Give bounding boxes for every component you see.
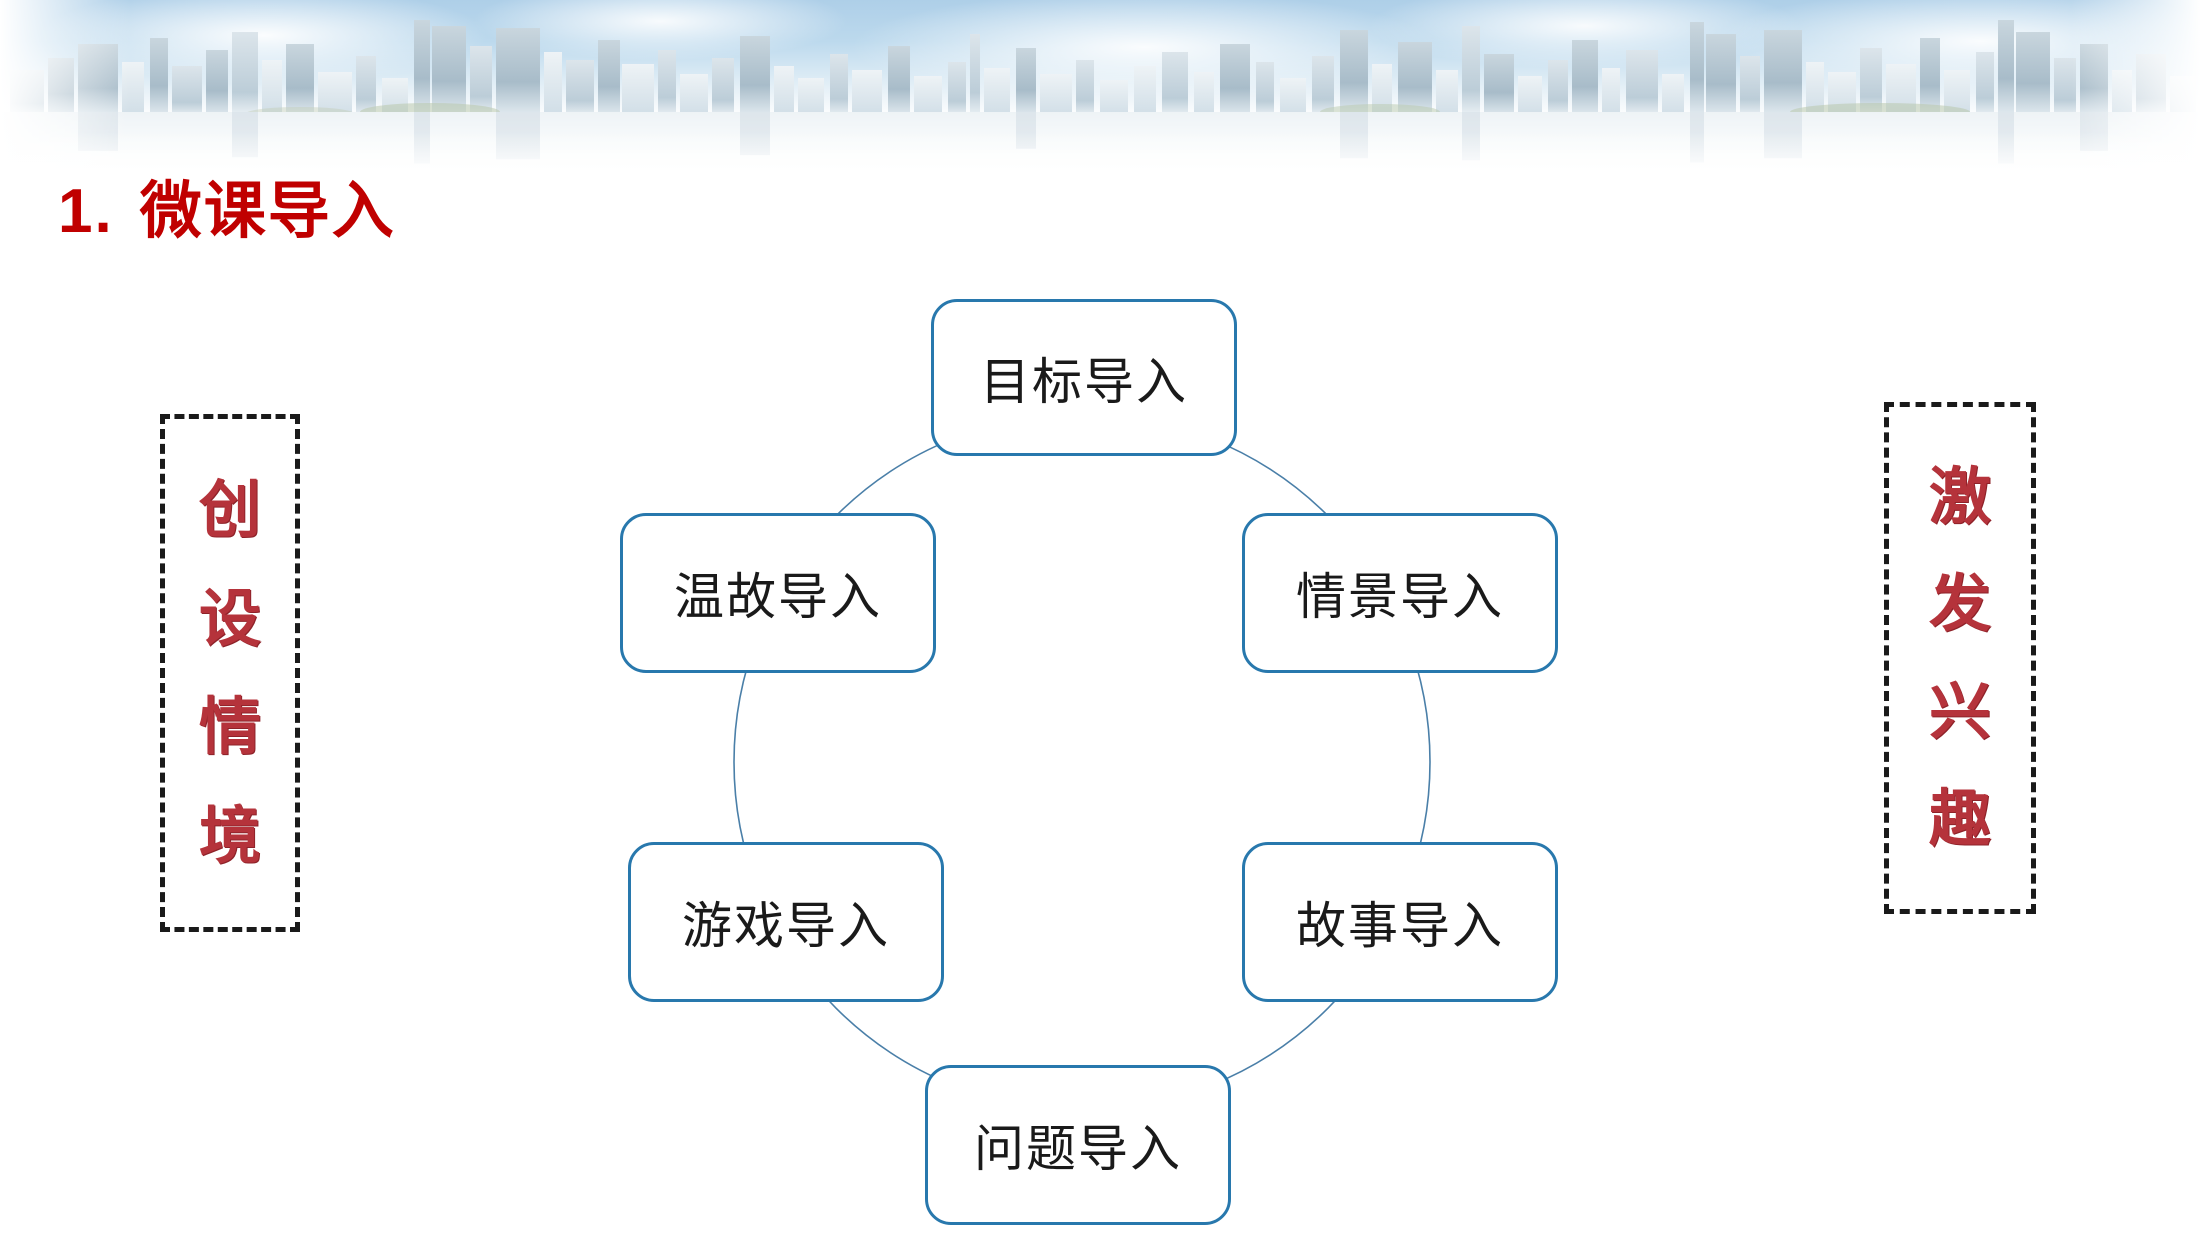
banner-bottom-fade: [0, 132, 2201, 180]
cityscape-banner: [0, 0, 2201, 180]
create-situation-banner: 创 设 情 境: [160, 414, 300, 932]
title-number: 1.: [58, 177, 114, 246]
stimulate-interest-banner: 激 发 兴 趣: [1884, 402, 2036, 914]
slide-canvas: 1.微课导入 创 设 情 境 激 发 兴 趣 目标导入 情景导入 故事导入 问题…: [0, 0, 2201, 1238]
skyline-silhouette: [0, 0, 2201, 118]
side-right-char-3: 兴: [1929, 681, 1991, 743]
cycle-node-review[interactable]: 温故导入: [620, 513, 936, 673]
page-title: 1.微课导入: [58, 178, 396, 246]
side-right-char-1: 激: [1929, 466, 1991, 528]
side-left-char-2: 设: [199, 588, 261, 650]
side-right-char-4: 趣: [1929, 788, 1991, 850]
cycle-node-situation[interactable]: 情景导入: [1242, 513, 1558, 673]
side-right-char-2: 发: [1929, 573, 1991, 635]
side-left-char-4: 境: [199, 805, 261, 867]
side-left-char-3: 情: [199, 696, 261, 758]
cycle-diagram: 目标导入 情景导入 故事导入 问题导入 游戏导入 温故导入: [620, 280, 1580, 1180]
cycle-node-story[interactable]: 故事导入: [1242, 842, 1558, 1002]
title-text: 微课导入: [140, 177, 396, 246]
cycle-node-goal[interactable]: 目标导入: [931, 299, 1237, 456]
side-left-char-1: 创: [199, 479, 261, 541]
cycle-node-game[interactable]: 游戏导入: [628, 842, 944, 1002]
cycle-node-question[interactable]: 问题导入: [925, 1065, 1231, 1225]
